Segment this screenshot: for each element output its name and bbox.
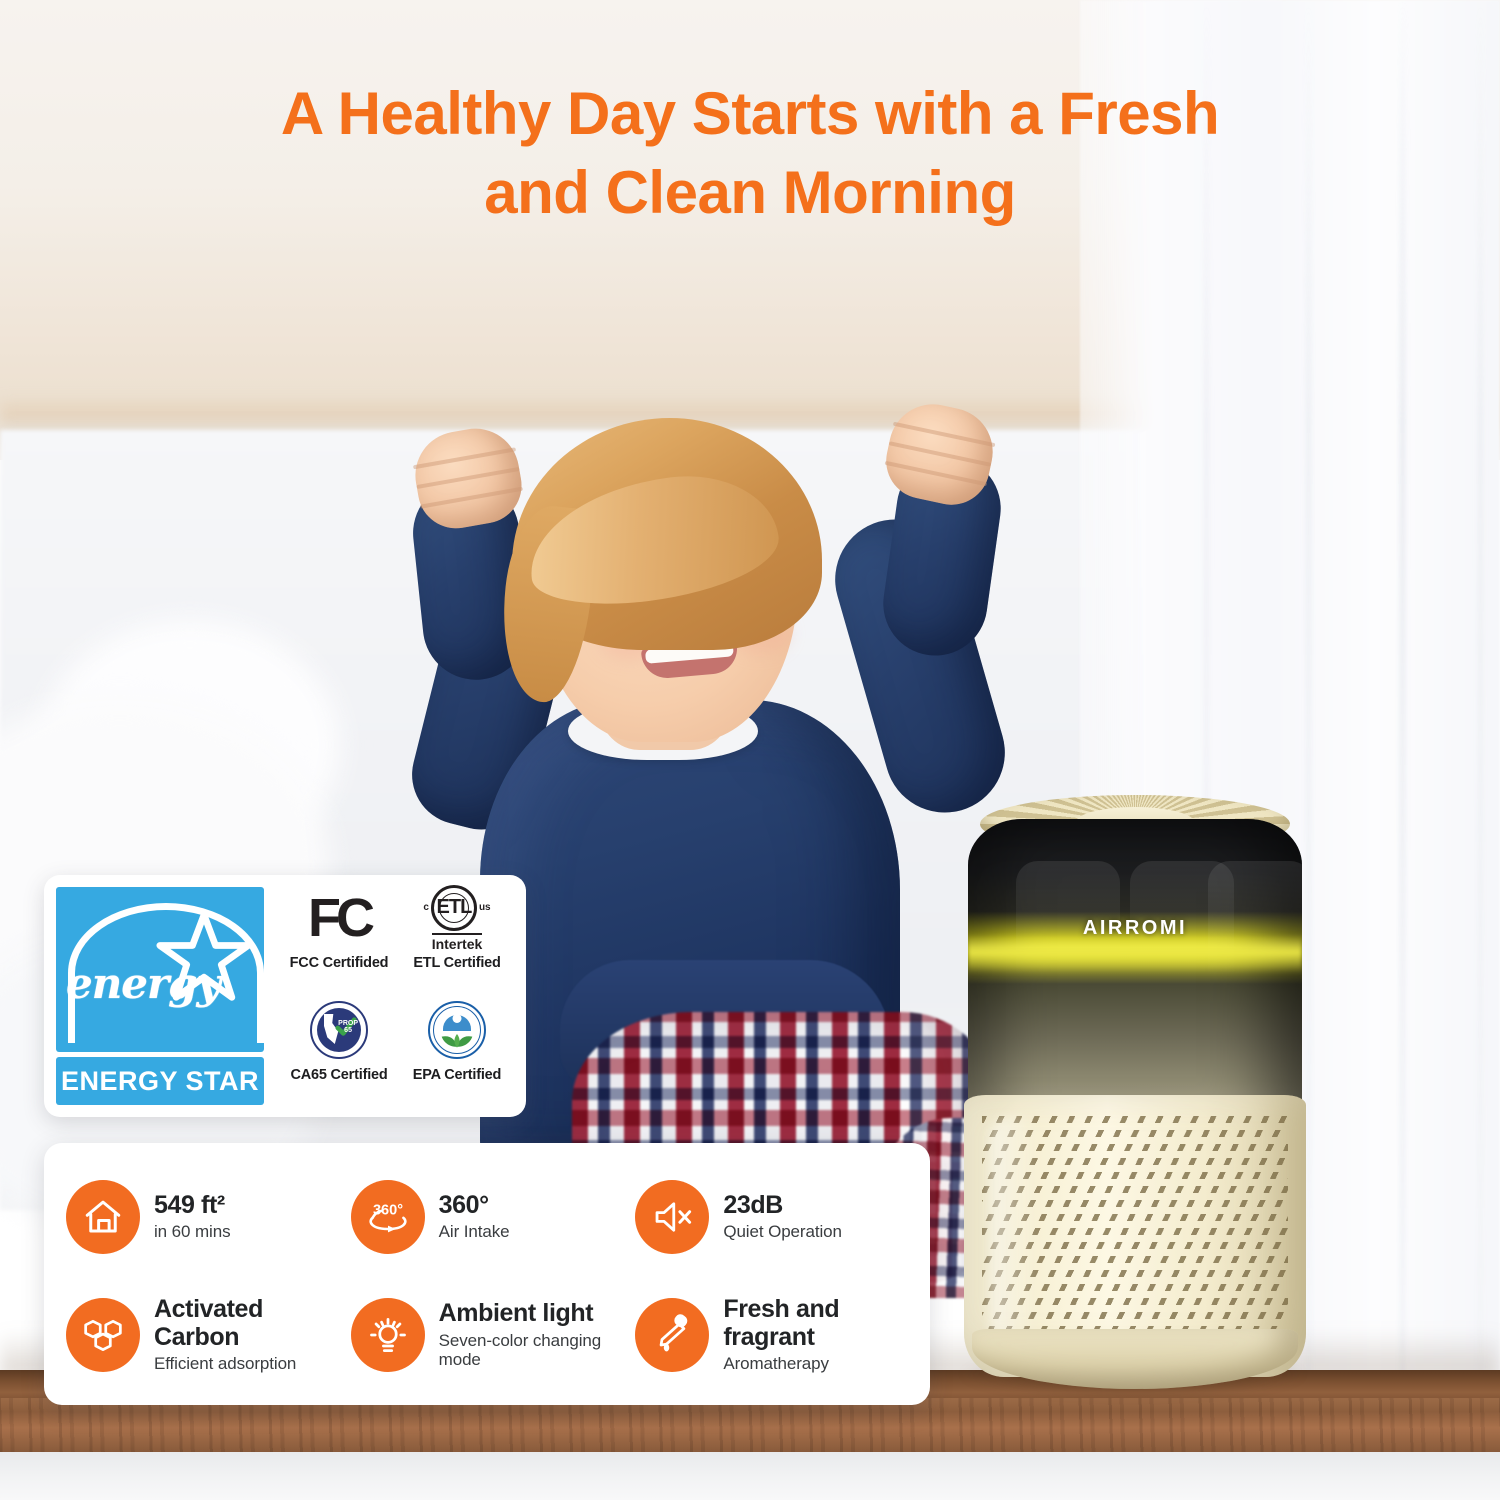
feature-item-quiet: 23dB Quiet Operation — [635, 1161, 916, 1273]
feature-title: 549 ft² — [154, 1192, 230, 1220]
energy-star-mark: energy — [56, 887, 264, 1052]
energy-star-label: ENERGY STAR — [56, 1057, 264, 1105]
cert-caption: FCC Certifided — [290, 955, 389, 971]
feature-item-air-intake: 360° 360° Air Intake — [351, 1161, 632, 1273]
rotate-360-icon: 360° — [351, 1180, 425, 1254]
feature-title: Fresh and fragrant — [723, 1296, 916, 1351]
feature-title: 23dB — [723, 1192, 842, 1220]
svg-text:360°: 360° — [373, 1202, 403, 1218]
etl-right-mark: us — [479, 902, 491, 913]
feature-subtitle: in 60 mins — [154, 1222, 230, 1242]
honeycomb-icon — [66, 1298, 140, 1372]
feature-item-ambient-light: Ambient light Seven-color changing mode — [351, 1279, 632, 1391]
cert-badge-epa: EPA Certified — [398, 997, 516, 1109]
headline-line-2: and Clean Morning — [0, 153, 1500, 232]
feature-subtitle: Seven-color changing mode — [439, 1331, 632, 1370]
feature-title: Activated Carbon — [154, 1296, 347, 1351]
etl-logo-icon: c ETL us Intertek — [423, 885, 490, 951]
cert-caption: EPA Certified — [413, 1067, 501, 1083]
feature-item-aromatherapy: Fresh and fragrant Aromatherapy — [635, 1279, 916, 1391]
etl-left-mark: c — [423, 902, 429, 913]
ambient-light-ring — [968, 935, 1302, 973]
feature-subtitle: Air Intake — [439, 1222, 510, 1242]
epa-seal-icon — [428, 997, 486, 1063]
cert-badge-etl: c ETL us Intertek ETL Certified — [398, 885, 516, 997]
cert-badge-fcc: FC FCC Certifided — [280, 885, 398, 997]
feature-highlights-panel: 549 ft² in 60 mins 360° 360° Air Intake — [44, 1143, 930, 1405]
headline-line-1: A Healthy Day Starts with a Fresh — [0, 74, 1500, 153]
feature-title: Ambient light — [439, 1300, 632, 1328]
air-purifier-product: AIRROMI — [950, 795, 1320, 1415]
fcc-logo-icon: FC — [308, 885, 370, 951]
feature-subtitle: Quiet Operation — [723, 1222, 842, 1242]
brand-logo: AIRROMI — [968, 917, 1302, 940]
cert-badge-ca65: PROP65 CA65 Certified — [280, 997, 398, 1109]
feature-subtitle: Efficient adsorption — [154, 1354, 347, 1374]
page-title: A Healthy Day Starts with a Fresh and Cl… — [0, 74, 1500, 232]
cert-caption: ETL Certified — [413, 955, 500, 971]
feature-subtitle: Aromatherapy — [723, 1354, 916, 1374]
lightbulb-icon — [351, 1298, 425, 1372]
cert-badge-grid: FC FCC Certifided c ETL us Intertek ETL … — [276, 875, 526, 1117]
house-icon — [66, 1180, 140, 1254]
feature-item-activated-carbon: Activated Carbon Efficient adsorption — [66, 1279, 347, 1391]
mute-speaker-icon — [635, 1180, 709, 1254]
dropper-icon — [635, 1298, 709, 1372]
feature-item-coverage: 549 ft² in 60 mins — [66, 1161, 347, 1273]
star-icon — [156, 909, 252, 1005]
intertek-label: Intertek — [432, 933, 483, 952]
below-table-area — [0, 1452, 1500, 1500]
energy-star-logo: energy ENERGY STAR — [44, 875, 276, 1117]
certifications-panel: energy ENERGY STAR FC FCC Certifided c E… — [44, 875, 526, 1117]
feature-title: 360° — [439, 1192, 510, 1220]
body-highlight — [990, 1115, 1036, 1345]
prop65-seal-icon: PROP65 — [310, 997, 368, 1063]
cert-caption: CA65 Certified — [290, 1067, 387, 1083]
